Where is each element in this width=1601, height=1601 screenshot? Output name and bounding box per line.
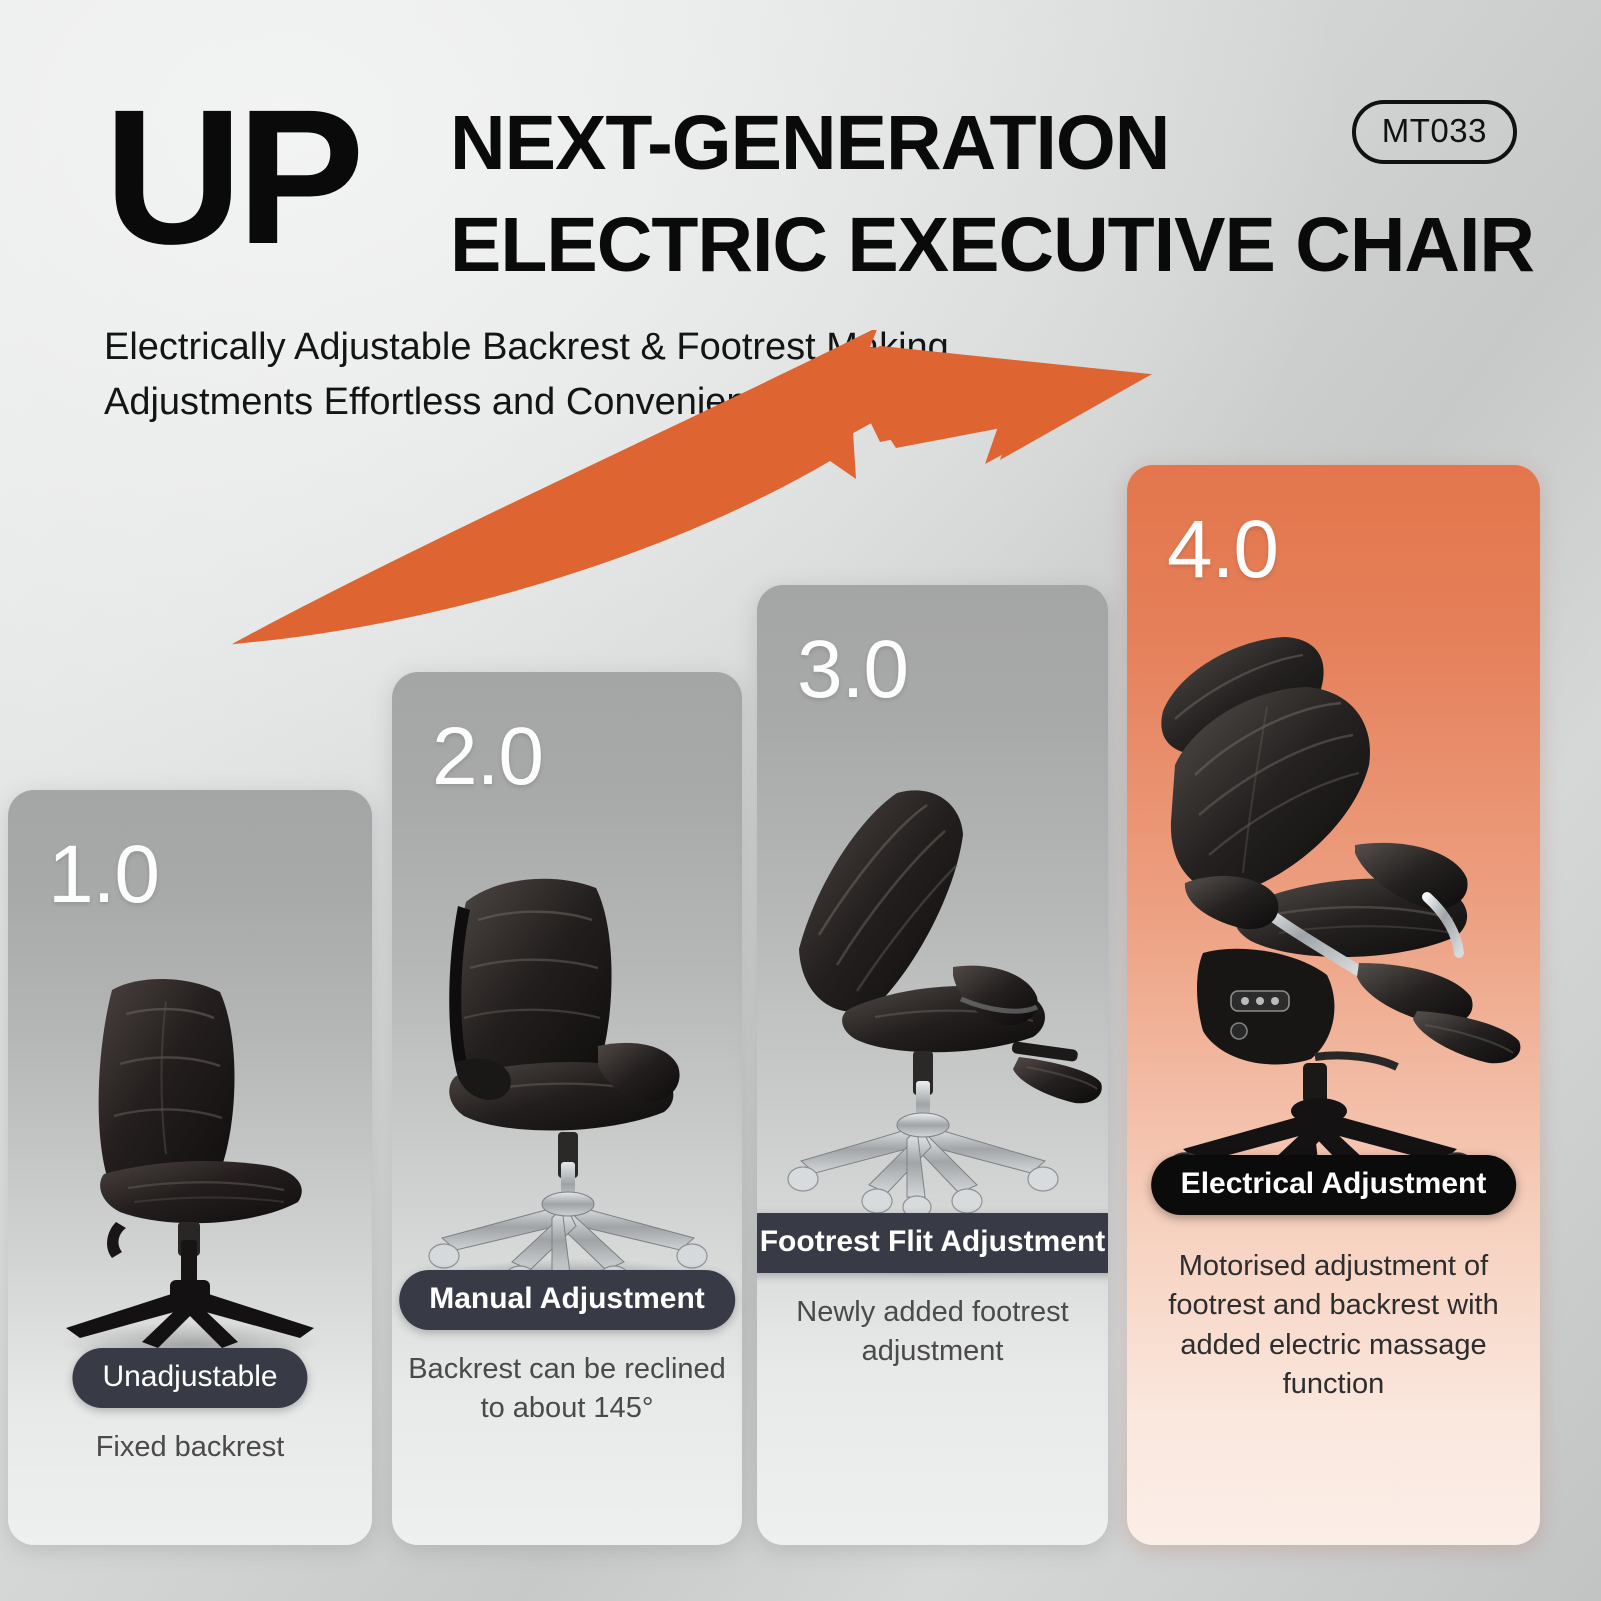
version-label-4: 4.0 (1167, 509, 1278, 591)
badge-card-4: Electrical Adjustment (1151, 1155, 1517, 1215)
version-card-1[interactable]: 1.0 (8, 790, 372, 1545)
chair-image-4 (1127, 615, 1540, 1215)
version-card-2[interactable]: 2.0 (392, 672, 742, 1545)
version-card-4[interactable]: 4.0 (1127, 465, 1540, 1545)
sku-badge: MT033 (1352, 100, 1517, 164)
badge-card-2: Manual Adjustment (399, 1270, 735, 1330)
version-card-3[interactable]: 3.0 (757, 585, 1108, 1545)
chair-image-3 (757, 765, 1108, 1285)
version-label-2: 2.0 (432, 716, 543, 798)
badge-card-3: Footrest Flit Adjustment (757, 1213, 1108, 1273)
title-line-2: ELECTRIC EXECUTIVE CHAIR (450, 194, 1540, 296)
description-card-2: Backrest can be reclined to about 145° (403, 1350, 732, 1429)
description-card-4: Motorised adjustment of footrest and bac… (1152, 1247, 1515, 1405)
version-label-1: 1.0 (48, 834, 159, 916)
chair-image-1 (8, 940, 372, 1370)
brand-logo: UP (104, 86, 359, 268)
version-label-3: 3.0 (797, 629, 908, 711)
badge-card-1: Unadjustable (72, 1348, 307, 1408)
description-card-3: Newly added footrest adjustment (768, 1293, 1098, 1372)
description-card-1: Fixed backrest (19, 1428, 361, 1467)
chair-image-2 (392, 832, 742, 1302)
